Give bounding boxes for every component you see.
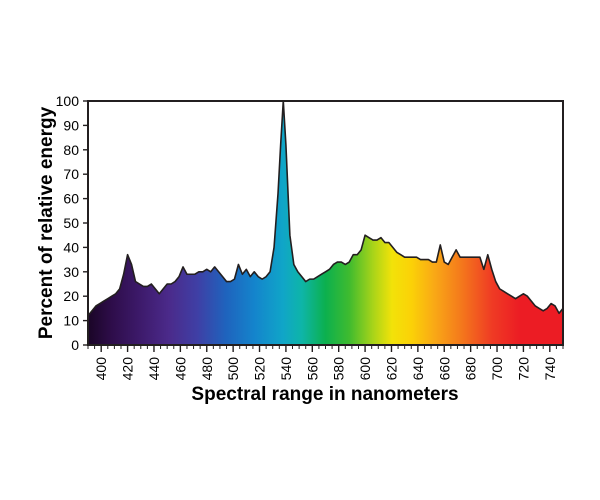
y-tick-label: 90 <box>63 117 79 133</box>
x-tick-label: 480 <box>199 357 215 381</box>
x-tick-label: 680 <box>463 357 479 381</box>
y-tick-label: 100 <box>56 93 80 109</box>
y-tick-label: 50 <box>63 215 79 231</box>
spectral-energy-chart: 0102030405060708090100 40042044046048050… <box>0 0 600 500</box>
x-tick-label: 600 <box>357 357 373 381</box>
x-tick-label: 700 <box>489 357 505 381</box>
y-tick-label: 80 <box>63 142 79 158</box>
y-tick-label: 10 <box>63 313 79 329</box>
y-tick-label: 0 <box>71 337 79 353</box>
y-tick-label: 30 <box>63 264 79 280</box>
x-tick-label: 640 <box>410 357 426 381</box>
x-tick-label: 520 <box>252 357 268 381</box>
x-tick-label: 660 <box>436 357 452 381</box>
x-tick-label: 740 <box>542 357 558 381</box>
x-axis-title: Spectral range in nanometers <box>191 384 458 405</box>
chart-background <box>0 0 600 500</box>
y-tick-label: 70 <box>63 166 79 182</box>
y-tick-label: 60 <box>63 191 79 207</box>
y-axis-title: Percent of relative energy <box>36 106 57 339</box>
x-tick-label: 440 <box>146 357 162 381</box>
x-tick-label: 720 <box>515 357 531 381</box>
y-tick-label: 40 <box>63 239 79 255</box>
x-tick-label: 400 <box>93 357 109 381</box>
x-tick-label: 460 <box>172 357 188 381</box>
x-tick-label: 560 <box>304 357 320 381</box>
x-tick-label: 420 <box>120 357 136 381</box>
x-tick-label: 620 <box>383 357 399 381</box>
y-tick-label: 20 <box>63 288 79 304</box>
x-tick-label: 580 <box>331 357 347 381</box>
x-tick-label: 500 <box>225 357 241 381</box>
x-tick-label: 540 <box>278 357 294 381</box>
